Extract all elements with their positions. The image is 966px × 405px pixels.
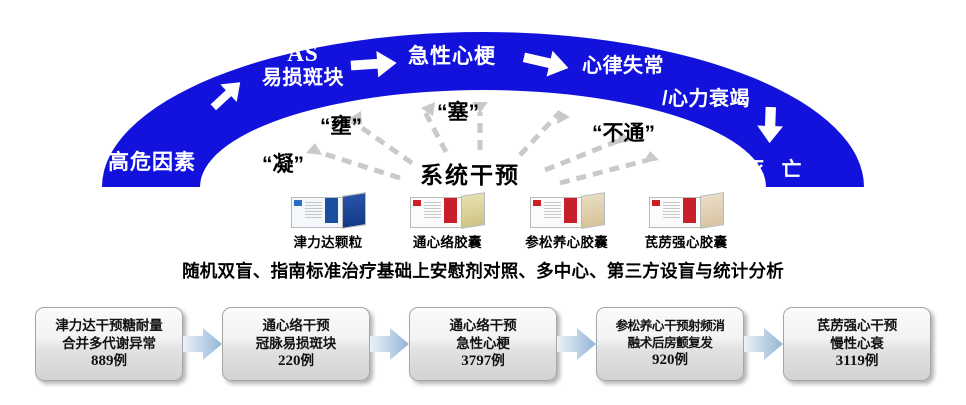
arc-stage-heart-failure: /心力衰竭 [662, 89, 750, 110]
trial-line-2: 冠脉易损斑块 [256, 335, 336, 353]
trial-count: 889例 [91, 352, 127, 371]
trial-count-unit: 例 [865, 353, 879, 368]
product-name: 参松养心胶囊 [511, 231, 623, 251]
product-box-icon [285, 193, 371, 229]
pathology-term-yong: “壅” [320, 110, 362, 140]
trial-line-1: 参松养心干预射频消 [616, 318, 725, 334]
product-jinlida: 津力达颗粒 [272, 193, 384, 251]
product-box-icon [643, 193, 729, 229]
trial-count: 3797例 [461, 352, 505, 371]
trial-count-value: 920 [652, 352, 675, 368]
pathology-term-ning: “凝” [262, 148, 304, 178]
flow-arrow-4 [744, 324, 783, 364]
flow-arrow-1 [183, 324, 222, 364]
product-name: 津力达颗粒 [272, 231, 384, 251]
study-design-caption: 随机双盲、指南标准治疗基础上安慰剂对照、多中心、第三方设盲与统计分析 [0, 258, 966, 283]
trial-line-2: 急性心梗 [456, 335, 510, 353]
trial-count: 3119例 [836, 352, 879, 371]
product-box-icon [404, 193, 490, 229]
clinical-trial-flow: 津力达干预糖耐量 合并多代谢异常 889例 通心络干预 冠脉易损斑块 220例 [35, 305, 931, 383]
arc-stage-death: 死 亡 [744, 160, 808, 181]
trial-line-2: 慢性心衰 [830, 335, 884, 353]
trial-count-unit: 例 [675, 352, 689, 367]
infographic-canvas: 高危因素 AS 易损斑块 急性心梗 心律失常 /心力衰竭 死 亡 “凝” “壅”… [0, 0, 966, 405]
trial-box-qili-chf[interactable]: 芪苈强心干预 慢性心衰 3119例 [783, 307, 931, 381]
trial-line-1: 津力达干预糖耐量 [55, 317, 162, 335]
trial-count-value: 3797 [461, 353, 491, 369]
trial-line-1: 芪苈强心干预 [817, 317, 897, 335]
flow-arrow-3 [557, 324, 596, 364]
product-name: 芪苈强心胶囊 [630, 231, 742, 251]
product-shensong-yangxin: 参松养心胶囊 [511, 193, 623, 251]
trial-count: 220例 [278, 352, 314, 371]
product-row: 津力达颗粒 通心络胶囊 参松养心胶囊 芪苈强心胶囊 [272, 193, 742, 253]
trial-box-tongxinluo-plaque[interactable]: 通心络干预 冠脉易损斑块 220例 [222, 307, 370, 381]
disease-progression-arc: 高危因素 AS 易损斑块 急性心梗 心律失常 /心力衰竭 死 亡 “凝” “壅”… [0, 0, 966, 200]
arc-stage-arrhythmia: 心律失常 [582, 56, 664, 77]
arc-stage-as-plaque: AS 易损斑块 [248, 42, 358, 89]
arc-stage-as-chinese: 易损斑块 [248, 68, 358, 89]
trial-line-1: 通心络干预 [450, 317, 517, 335]
trial-count-unit: 例 [491, 353, 505, 368]
product-name: 通心络胶囊 [391, 231, 503, 251]
trial-count-value: 3119 [836, 353, 865, 369]
arc-stage-as-abbrev: AS [248, 42, 358, 66]
trial-count-value: 889 [91, 353, 114, 369]
pathology-term-se: “塞” [437, 96, 479, 126]
product-box-icon [524, 193, 610, 229]
arc-stage-acute-mi: 急性心梗 [408, 46, 496, 68]
pathology-term-butong: “不通” [592, 117, 655, 147]
trial-box-jinlida[interactable]: 津力达干预糖耐量 合并多代谢异常 889例 [35, 307, 183, 381]
product-qili-qiangxin: 芪苈强心胶囊 [630, 193, 742, 251]
product-tongxinluo: 通心络胶囊 [391, 193, 503, 251]
systemic-intervention-label: 系统干预 [420, 156, 520, 190]
trial-count-unit: 例 [301, 353, 315, 368]
arc-stage-risk-factors: 高危因素 [108, 152, 196, 174]
trial-box-shensong-af[interactable]: 参松养心干预射频消 融术后房颤复发 920例 [596, 307, 744, 381]
trial-count-unit: 例 [114, 353, 128, 368]
trial-line-2: 融术后房颤复发 [628, 335, 713, 351]
trial-box-tongxinluo-ami[interactable]: 通心络干预 急性心梗 3797例 [409, 307, 557, 381]
flow-arrow-2 [370, 324, 409, 364]
trial-line-1: 通心络干预 [263, 317, 330, 335]
trial-line-2: 合并多代谢异常 [62, 335, 156, 353]
trial-count-value: 220 [278, 353, 301, 369]
trial-count: 920例 [652, 351, 688, 370]
